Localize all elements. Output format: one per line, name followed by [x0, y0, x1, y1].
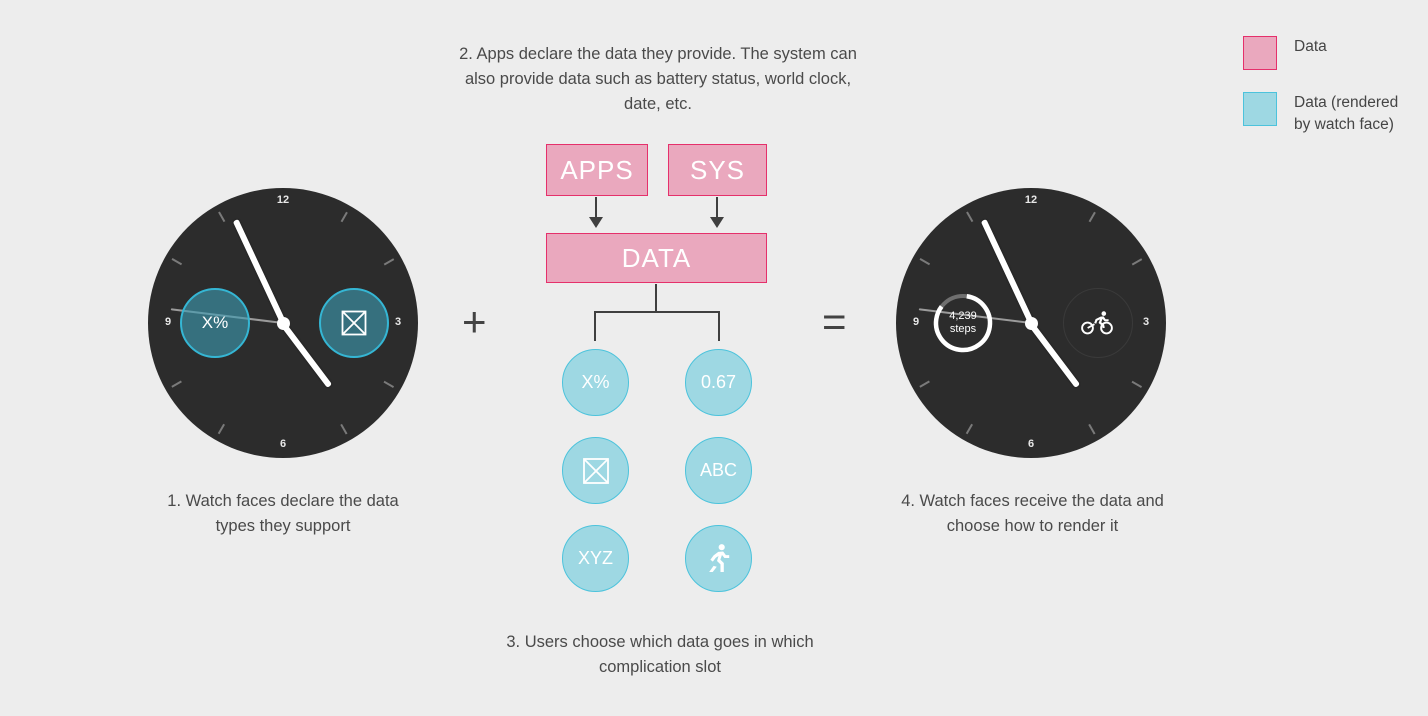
hour-tick — [172, 381, 182, 388]
legend-label-data: Data — [1294, 36, 1327, 58]
complication-steps[interactable]: 4,239 steps — [932, 292, 994, 354]
data-type-label: XYZ — [578, 548, 613, 569]
steps-unit: steps — [950, 323, 976, 336]
diagram-canvas: 2. Apps declare the data they provide. T… — [0, 0, 1428, 716]
legend-label-rendered-data: Data (rendered by watch face) — [1294, 92, 1414, 136]
hour-numeral-6: 6 — [273, 438, 293, 450]
complication-slot-right[interactable] — [319, 288, 389, 358]
legend-swatch-pink — [1243, 36, 1277, 70]
apps-to-data-line — [595, 197, 597, 219]
data-type-bubble-image[interactable] — [562, 437, 629, 504]
steps-value: 4,239 — [949, 310, 977, 323]
caption-step-2: 2. Apps declare the data they provide. T… — [452, 42, 864, 117]
bicycle-icon — [1081, 311, 1115, 335]
hour-tick — [341, 424, 348, 434]
legend-item-rendered-data: Data (rendered by watch face) — [1243, 92, 1414, 136]
legend-item-data: Data — [1243, 36, 1414, 70]
hands-center-dot — [1025, 317, 1038, 330]
hour-tick — [1089, 424, 1096, 434]
complication-slot-left[interactable]: X% — [180, 288, 250, 358]
complication-steps-text: 4,239 steps — [932, 292, 994, 354]
hour-tick — [341, 212, 348, 222]
data-type-label: 0.67 — [701, 372, 736, 393]
equals-operator: = — [822, 301, 847, 343]
complication-activity[interactable] — [1063, 288, 1133, 358]
data-type-bubble-shorttext[interactable]: ABC — [685, 437, 752, 504]
running-person-icon — [704, 543, 734, 575]
hour-tick — [966, 212, 973, 222]
data-tree-crossbar — [594, 311, 720, 313]
apps-box[interactable]: APPS — [546, 144, 648, 196]
hour-tick — [1132, 258, 1142, 265]
hour-numeral-3: 3 — [388, 316, 408, 328]
sys-to-data-line — [716, 197, 718, 219]
hour-tick — [218, 424, 225, 434]
hour-numeral-9: 9 — [906, 316, 926, 328]
hour-numeral-9: 9 — [158, 316, 178, 328]
caption-step-4: 4. Watch faces receive the data and choo… — [895, 489, 1170, 539]
legend-swatch-cyan — [1243, 92, 1277, 126]
image-placeholder-icon — [581, 456, 611, 486]
data-type-bubble-percent[interactable]: X% — [562, 349, 629, 416]
hour-tick — [172, 258, 182, 265]
sys-box[interactable]: SYS — [668, 144, 767, 196]
complication-left-label: X% — [202, 313, 228, 333]
hour-tick — [1132, 381, 1142, 388]
plus-operator: + — [462, 301, 487, 343]
data-type-bubble-longtext[interactable]: XYZ — [562, 525, 629, 592]
hour-numeral-6: 6 — [1021, 438, 1041, 450]
hour-tick — [920, 258, 930, 265]
hour-tick — [384, 381, 394, 388]
sys-box-label: SYS — [690, 155, 745, 186]
hour-tick — [966, 424, 973, 434]
data-tree-branch-left — [594, 311, 596, 341]
hour-tick — [218, 212, 225, 222]
data-box-label: DATA — [622, 243, 691, 274]
legend: Data Data (rendered by watch face) — [1243, 36, 1414, 158]
hour-tick — [1089, 212, 1096, 222]
hour-numeral-12: 12 — [273, 194, 293, 206]
apps-box-label: APPS — [560, 155, 633, 186]
hour-numeral-12: 12 — [1021, 194, 1041, 206]
data-tree-branch-right — [718, 311, 720, 341]
sys-to-data-arrowhead — [710, 217, 724, 228]
data-tree-stem — [655, 284, 657, 312]
hour-numeral-3: 3 — [1136, 316, 1156, 328]
data-type-bubble-float[interactable]: 0.67 — [685, 349, 752, 416]
caption-step-3: 3. Users choose which data goes in which… — [505, 630, 815, 680]
image-placeholder-icon — [340, 309, 368, 337]
data-type-bubble-activity[interactable] — [685, 525, 752, 592]
data-type-label: ABC — [700, 460, 737, 481]
apps-to-data-arrowhead — [589, 217, 603, 228]
caption-step-1: 1. Watch faces declare the data types th… — [158, 489, 408, 539]
watch-face-right: 12 3 6 9 4,239 steps — [896, 188, 1166, 458]
hour-tick — [384, 258, 394, 265]
data-box[interactable]: DATA — [546, 233, 767, 283]
hands-center-dot — [277, 317, 290, 330]
watch-face-left: 12 3 6 9 X% — [148, 188, 418, 458]
data-type-label: X% — [581, 372, 609, 393]
hour-tick — [920, 381, 930, 388]
